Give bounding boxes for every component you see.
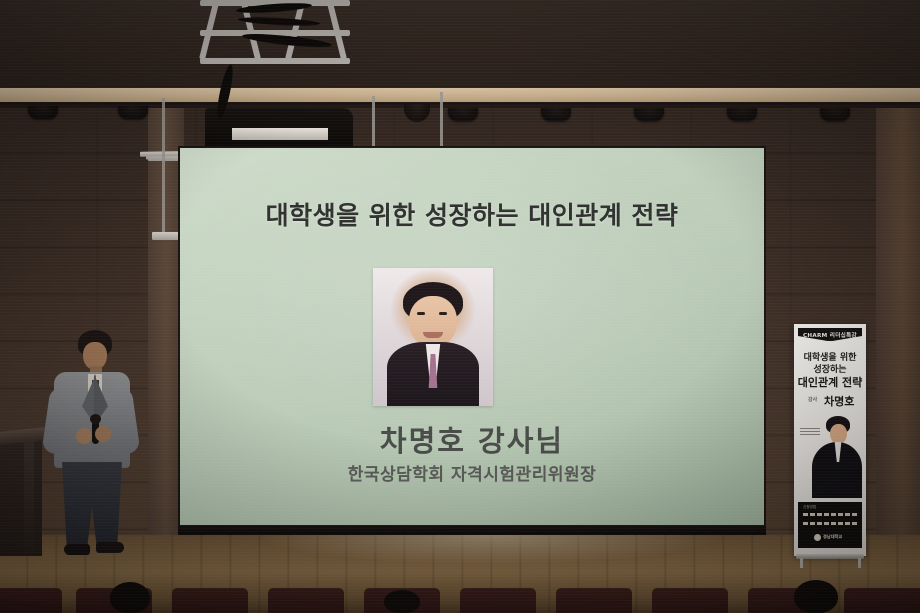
seat [556,588,632,613]
banner-stand-leg [800,558,803,568]
projector-support-rod [162,98,165,158]
banner-footer-line1 [803,513,859,516]
portrait-eye-left [417,312,425,315]
audience-head [794,580,838,613]
podium-edge [24,440,34,556]
speaker-hand-right [95,426,111,442]
portrait-mouth [423,332,443,338]
banner-footer-line2 [803,522,859,525]
audience-head [384,590,420,613]
speaker-shoe-left [64,544,90,555]
banner-university-logo: 경남대학교 [814,533,850,541]
banner-speaker-photo [810,412,864,498]
seat [172,588,248,613]
seat [844,588,920,613]
banner-header-ribbon: CHARM 리더십특강 [798,328,862,341]
podium-body [0,438,42,556]
speaker-person [40,330,144,570]
speaker-shoe-right [96,542,124,553]
ceiling-spotlight-icon [541,108,571,121]
lecture-hall-photo: 대학생을 위한 성장하는 대인관계 전략 차명호 강사님 한국상담학회 자격시험… [0,0,920,613]
seat [0,588,62,613]
banner-footer-block: 신청방법 경남대학교 [798,502,862,548]
ceiling-spotlight-icon [727,108,757,121]
projector-base-plate [232,128,328,140]
ceiling-spotlight-icon [634,108,664,121]
seat [460,588,536,613]
projection-screen: 대학생을 위한 성장하는 대인관계 전략 차명호 강사님 한국상담학회 자격시험… [180,148,764,525]
wall-column-right [876,108,920,560]
banner-stand-leg [858,558,861,568]
projection-screen-bottom-bar [178,525,766,535]
seat [268,588,344,613]
ceiling-spotlight-icon [118,106,148,119]
slide-speaker-title: 한국상담학회 자격시험관리위원장 [180,460,764,485]
audience-seat-row [0,582,920,613]
banner-header-text: CHARM 리더십특강 [803,328,857,339]
microphone-head-icon [90,414,101,424]
speaker-pants [62,462,122,548]
rollup-banner: CHARM 리더십특강 대학생을 위한 성장하는 대인관계 전략 강사 차명호 … [794,324,866,556]
ceiling-spotlight-icon [28,106,58,119]
slide-speaker-portrait [373,268,493,406]
seat [652,588,728,613]
ceiling-beam [0,88,920,102]
banner-title-line3: 대인관계 전략 [794,374,866,390]
banner-speaker-name: 차명호 [824,393,854,409]
logo-mark-icon [814,534,821,541]
portrait-eye-right [439,312,447,315]
banner-footer-caption: 신청방법 [803,505,816,510]
ceiling-spotlight-icon [448,108,478,121]
ceiling-upper-wall [0,0,920,88]
banner-stand-base [796,554,864,559]
slide-speaker-name: 차명호 강사님 [180,418,764,460]
banner-logo-text: 경남대학교 [823,534,842,540]
projector-support-rod [162,158,165,238]
ceiling-spotlight-icon [820,108,850,121]
speaker-hand-left [76,428,92,444]
banner-photo-face [830,424,847,444]
audience-head [110,582,150,613]
banner-role-label: 강사 [808,396,817,403]
portrait-face [409,296,457,348]
slide-title: 대학생을 위한 성장하는 대인관계 전략 [180,196,764,232]
